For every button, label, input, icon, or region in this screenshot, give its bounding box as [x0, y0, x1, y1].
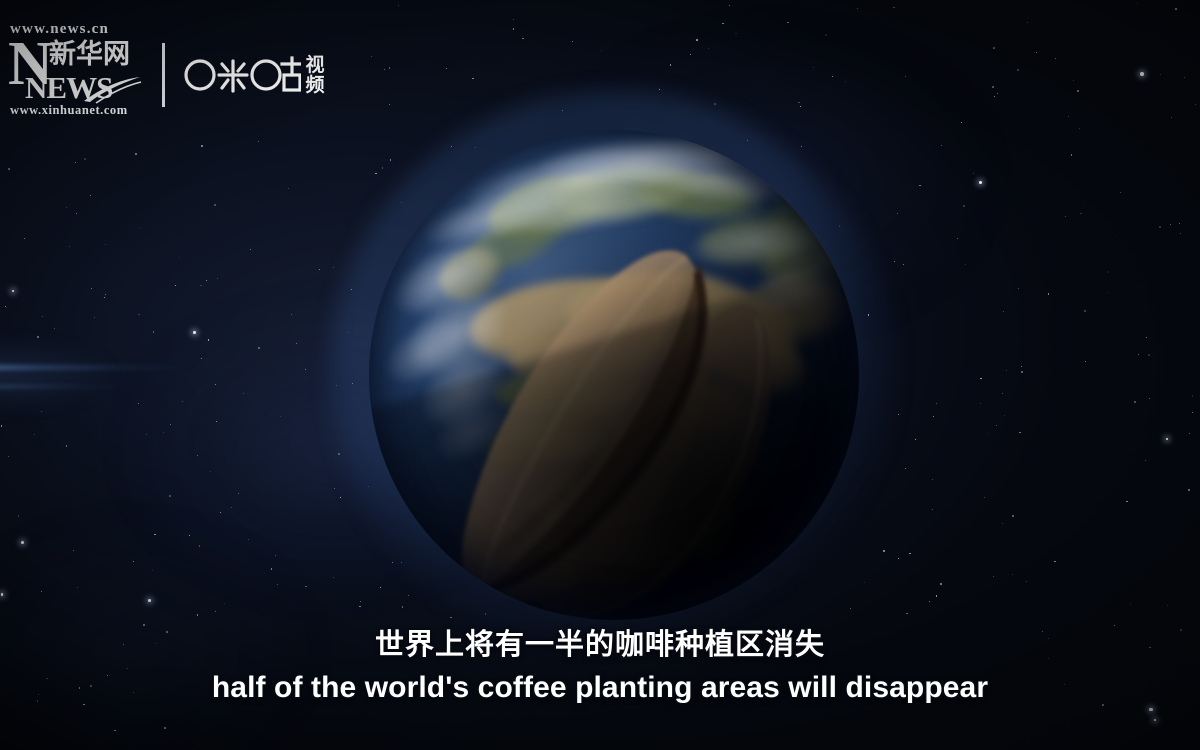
star	[965, 264, 966, 265]
star	[708, 48, 709, 49]
star	[1145, 460, 1146, 461]
star	[360, 601, 361, 602]
star	[333, 267, 334, 268]
star	[1120, 192, 1121, 193]
star	[75, 162, 76, 163]
star	[905, 76, 906, 77]
migu-video-logo[interactable]: 视 频	[183, 51, 325, 99]
star	[1027, 22, 1028, 23]
star	[104, 297, 105, 298]
star	[201, 145, 203, 147]
star	[1012, 515, 1013, 516]
star	[189, 535, 190, 536]
star	[214, 204, 215, 205]
star	[787, 22, 788, 23]
star	[146, 434, 147, 435]
star	[513, 19, 514, 20]
star	[135, 153, 137, 155]
video-frame: www.news.cn N 新华网 NEWS www.xinhuanet.com	[0, 0, 1200, 750]
star	[76, 213, 77, 214]
migu-wordmark-icon	[183, 51, 301, 99]
star	[66, 207, 67, 208]
star	[832, 76, 833, 77]
star	[34, 434, 35, 435]
star	[1080, 213, 1082, 215]
star	[305, 586, 307, 588]
star	[1160, 74, 1161, 75]
star	[696, 39, 698, 41]
xinhua-swoosh-icon	[82, 74, 142, 104]
subtitle-english: half of the world's coffee planting area…	[0, 668, 1200, 707]
xinhua-bottom-url: www.xinhuanet.com	[10, 103, 140, 118]
star	[980, 378, 981, 379]
star	[243, 393, 244, 394]
earth-globe	[369, 130, 859, 620]
star	[238, 493, 239, 494]
star	[170, 424, 171, 425]
xinhua-chinese-name: 新华网	[49, 41, 130, 68]
star	[690, 54, 691, 55]
star	[217, 278, 218, 279]
star	[1002, 523, 1003, 524]
star	[220, 512, 221, 513]
star	[164, 727, 166, 729]
star	[940, 583, 942, 585]
star	[1130, 604, 1131, 605]
xinhua-mark: N 新华网 NEWS	[8, 40, 140, 102]
star	[1002, 393, 1003, 394]
star	[1084, 310, 1086, 312]
star	[114, 730, 116, 732]
migu-video-label: 视 频	[306, 56, 325, 95]
star	[659, 89, 660, 90]
star	[24, 238, 25, 239]
star	[936, 403, 937, 404]
star	[513, 28, 514, 29]
star	[193, 331, 195, 333]
star	[140, 228, 141, 229]
star	[798, 102, 799, 103]
star	[148, 599, 151, 602]
star	[175, 285, 176, 286]
star	[988, 433, 989, 434]
star	[893, 7, 894, 8]
star	[1079, 128, 1080, 129]
earth-atmosphere-rim	[364, 125, 864, 625]
branding-bar: www.news.cn N 新华网 NEWS www.xinhuanet.com	[8, 22, 325, 128]
star	[1085, 361, 1086, 362]
star	[201, 358, 202, 359]
star	[1148, 354, 1150, 356]
star	[371, 56, 372, 57]
star	[84, 158, 86, 160]
subtitle-block: 世界上将有一半的咖啡种植区消失 half of the world's coff…	[0, 626, 1200, 707]
star	[936, 595, 937, 596]
star	[333, 577, 334, 578]
star	[248, 539, 249, 540]
star	[1175, 8, 1177, 10]
star	[77, 587, 78, 588]
star	[319, 269, 320, 270]
star	[1006, 370, 1007, 371]
light-streak-glow	[0, 340, 120, 410]
star	[197, 455, 198, 456]
star	[1036, 52, 1037, 53]
star	[1107, 292, 1108, 293]
star	[179, 257, 180, 258]
star	[1140, 72, 1144, 76]
migu-video-char-1: 视	[306, 56, 325, 75]
star	[522, 38, 523, 39]
star	[1159, 226, 1161, 228]
xinhua-news-logo[interactable]: www.news.cn N 新华网 NEWS www.xinhuanet.com	[8, 22, 140, 128]
star	[714, 103, 716, 105]
star	[979, 181, 982, 184]
star	[864, 582, 865, 583]
star	[21, 541, 24, 544]
star	[8, 456, 9, 457]
star	[1180, 233, 1181, 234]
star	[1065, 216, 1066, 217]
star	[933, 416, 934, 417]
star	[73, 550, 74, 551]
star	[296, 343, 297, 344]
star	[670, 64, 671, 65]
star	[1019, 432, 1021, 434]
star	[722, 23, 724, 25]
star	[1137, 3, 1138, 4]
star	[42, 316, 43, 317]
star	[163, 432, 164, 433]
star	[1170, 224, 1171, 225]
star	[389, 104, 390, 105]
star	[903, 264, 904, 265]
star	[1071, 154, 1073, 156]
star	[41, 591, 42, 592]
star	[215, 611, 216, 612]
star	[992, 86, 994, 88]
star	[1004, 415, 1005, 416]
star	[1138, 354, 1139, 355]
star	[340, 497, 341, 498]
star	[735, 33, 737, 35]
star	[216, 421, 217, 422]
star	[1195, 104, 1197, 106]
star	[883, 550, 884, 551]
star	[1167, 605, 1168, 606]
star	[206, 280, 207, 281]
logo-divider	[162, 43, 165, 107]
light-streak-primary	[0, 365, 195, 370]
star	[800, 106, 801, 107]
star	[994, 96, 995, 97]
star	[275, 555, 276, 556]
star	[138, 314, 140, 316]
star	[133, 561, 134, 562]
light-streak-secondary	[0, 385, 140, 388]
star	[54, 328, 55, 329]
star	[1021, 371, 1023, 373]
star	[996, 425, 997, 426]
star	[5, 306, 6, 307]
star	[37, 336, 39, 338]
star	[231, 507, 232, 508]
star	[1189, 433, 1190, 434]
star	[41, 411, 42, 412]
star	[169, 495, 171, 497]
star	[825, 34, 827, 36]
star	[898, 558, 899, 559]
star	[894, 261, 895, 262]
star	[1018, 288, 1019, 289]
star	[845, 81, 846, 82]
star	[200, 285, 201, 286]
star	[993, 47, 995, 49]
star	[1149, 398, 1150, 399]
star	[208, 339, 209, 340]
star	[94, 317, 95, 318]
star	[271, 568, 272, 569]
star	[905, 468, 906, 469]
migu-video-char-2: 频	[306, 76, 325, 95]
star	[305, 369, 306, 370]
subtitle-chinese: 世界上将有一半的咖啡种植区消失	[0, 626, 1200, 663]
